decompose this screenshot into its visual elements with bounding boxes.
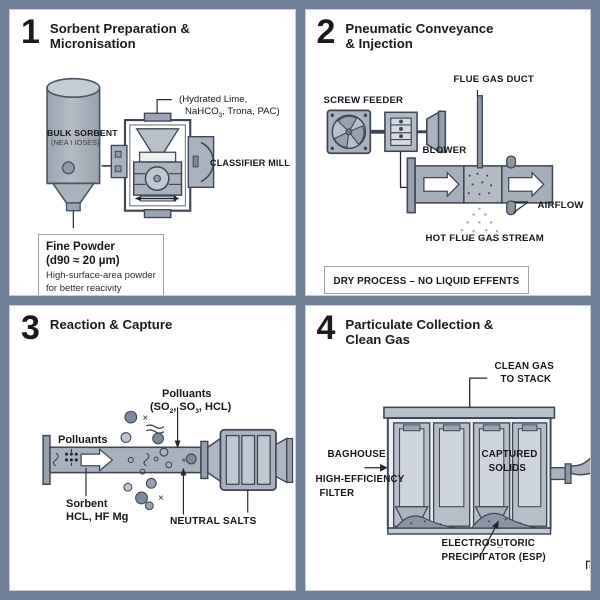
panel-1-artwork: BULK SORBENT (NEA I IOSES) (Hydrated Lim… (10, 10, 295, 295)
label-sorbent-line1: Sorbent (66, 498, 108, 511)
label-screw-feeder: SCREW FEEDER (324, 95, 404, 107)
panel-3-artwork: × × × (10, 306, 295, 591)
panel-4-artwork: CLEAN GAS TO STACK BAGHOUSE HIGH-EFFICIE… (306, 306, 591, 591)
stack (590, 422, 591, 566)
label-reagents-line2: NaHCO3, Trona, PAC) (185, 106, 280, 120)
panel-2-artwork: SCREW FEEDER FLUE GAS DUCT BLOWER AIRFLO… (306, 10, 591, 295)
label-sorbent-line2: HCL, HF Mg (66, 511, 128, 524)
panel-step-1: 1 Sorbent Preparation & Micronisation (9, 9, 296, 296)
particle-cloud-lower (124, 478, 156, 509)
label-reagents-line1: (Hydrated Lime, (179, 94, 247, 106)
label-tank-name: BULK SORBENT (47, 128, 118, 138)
callout-line2: (d90 ≈ 20 µm) (46, 254, 156, 268)
svg-text:×: × (181, 455, 186, 464)
label-tank-sub: (NEA I IOSES) (51, 139, 99, 148)
outlet-duct (550, 434, 591, 483)
label-flue-gas-duct: FLUE GAS DUCT (454, 74, 534, 86)
label-airflow: AIRFLOW (538, 200, 584, 212)
label-pollutants-top: Polluants (162, 388, 212, 401)
callout-fine-powder: Fine Powder (d90 ≈ 20 µm) High-surface-a… (38, 234, 164, 296)
callout-line3: High-surface-area powder (46, 270, 156, 282)
callout-line4: for better reacivity (46, 283, 156, 295)
reaction-capture-svg: × × × (10, 306, 295, 591)
svg-text:×: × (158, 492, 164, 503)
svg-text:×: × (143, 412, 149, 423)
label-captured-line2: SOLIDS (489, 463, 527, 475)
label-clean-gas-line1: CLEAN GAS (495, 361, 555, 373)
label-neutral-salts: NEUTRAL SALTS (170, 516, 257, 528)
label-pollutants-formula: (SO2, SO3, HCL) (150, 401, 231, 416)
panel-step-3: 3 Reaction & Capture (9, 305, 296, 592)
panel-step-4: 4 Particulate Collection & Clean Gas (305, 305, 592, 592)
label-baghouse: BAGHOUSE (328, 449, 386, 461)
label-blower: BLOWER (423, 145, 467, 157)
absorber-vessel (220, 429, 292, 489)
baghouse-unit (383, 407, 554, 534)
label-hot-flue-gas-stream: HOT FLUE GAS STREAM (426, 233, 544, 245)
classifier-mill (111, 113, 213, 217)
infographic-root: 1 Sorbent Preparation & Micronisation (0, 0, 600, 600)
metering-box (384, 112, 416, 151)
panel-step-2: 2 Pneumatic Conveyance & Injection (305, 9, 592, 296)
label-filter-line1: HIGH-EFFICIENCY (316, 474, 405, 486)
label-captured-line1: CAPTURED (482, 449, 538, 461)
label-esp-line1: ELECTROSU̲TORIC (442, 538, 536, 550)
label-clean-gas-line2: TO STACK (501, 374, 552, 386)
label-classifier-mill: CLASSIFIER MILL (210, 158, 290, 169)
screw-feeder-unit (327, 110, 370, 153)
label-pollutants-left: Polluants (58, 434, 108, 447)
callout-line1: Fine Powder (46, 240, 156, 254)
banner-dry-process-text: DRY PROCESS – NO LIQUID EFFENTS (334, 276, 520, 287)
label-esp-line2: PRECIPIΓATOR (ESP) (442, 552, 546, 564)
label-filter-line2: FILTER (320, 488, 355, 500)
banner-dry-process: DRY PROCESS – NO LIQUID EFFENTS (324, 266, 530, 294)
